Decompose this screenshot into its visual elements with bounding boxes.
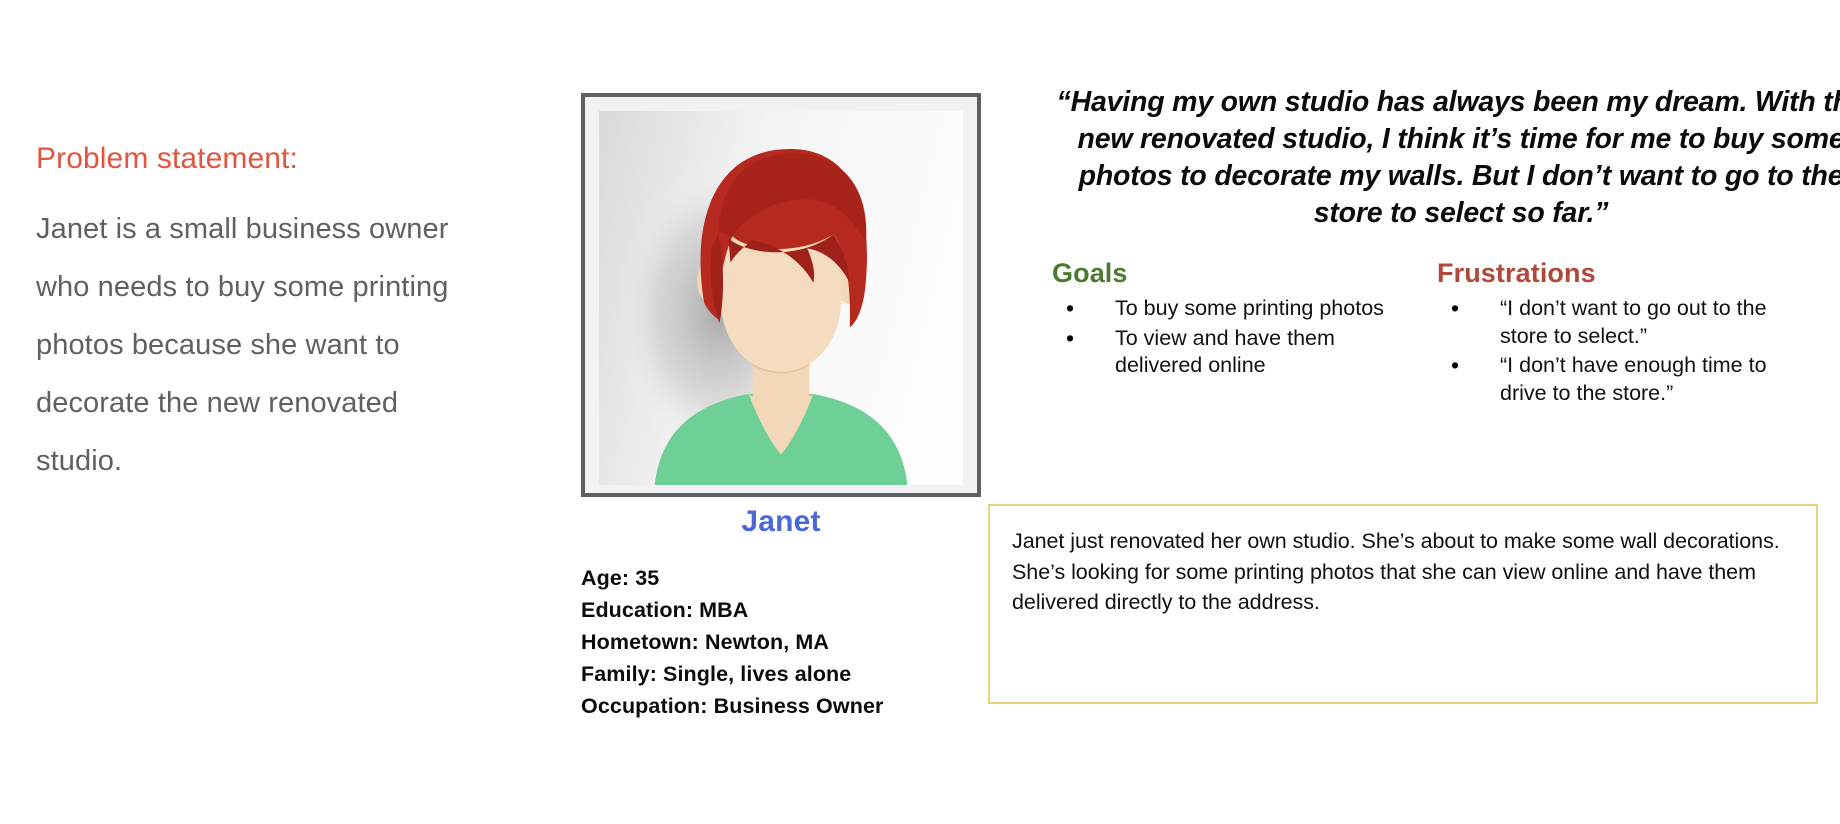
list-item: To buy some printing photos bbox=[1052, 295, 1402, 323]
persona-quote: “Having my own studio has always been my… bbox=[1055, 84, 1840, 232]
frustrations-heading: Frustrations bbox=[1437, 258, 1802, 289]
frustrations-section: Frustrations “I don’t want to go out to … bbox=[1437, 258, 1802, 409]
goals-section: Goals To buy some printing photos To vie… bbox=[1052, 258, 1402, 382]
persona-detail-hometown: Hometown: Newton, MA bbox=[581, 626, 1001, 658]
persona-detail-occupation: Occupation: Business Owner bbox=[581, 690, 1001, 722]
persona-detail-family: Family: Single, lives alone bbox=[581, 658, 1001, 690]
persona-detail-age: Age: 35 bbox=[581, 562, 1001, 594]
problem-statement-panel: Problem statement: Janet is a small busi… bbox=[36, 140, 466, 490]
problem-statement-heading: Problem statement: bbox=[36, 140, 466, 178]
list-item: To view and have them delivered online bbox=[1052, 325, 1402, 380]
goals-heading: Goals bbox=[1052, 258, 1402, 289]
persona-detail-education: Education: MBA bbox=[581, 594, 1001, 626]
frustrations-list: “I don’t want to go out to the store to … bbox=[1437, 295, 1802, 407]
persona-name: Janet bbox=[581, 505, 981, 539]
goals-list: To buy some printing photos To view and … bbox=[1052, 295, 1402, 380]
persona-details-list: Age: 35 Education: MBA Hometown: Newton,… bbox=[581, 562, 1001, 722]
problem-statement-body: Janet is a small business owner who need… bbox=[36, 200, 466, 490]
persona-photo-frame bbox=[581, 93, 981, 497]
scenario-text: Janet just renovated her own studio. She… bbox=[1012, 526, 1794, 618]
woman-avatar-illustration bbox=[599, 111, 963, 485]
list-item: “I don’t want to go out to the store to … bbox=[1437, 295, 1802, 350]
scenario-box: Janet just renovated her own studio. She… bbox=[988, 504, 1818, 704]
list-item: “I don’t have enough time to drive to th… bbox=[1437, 352, 1802, 407]
